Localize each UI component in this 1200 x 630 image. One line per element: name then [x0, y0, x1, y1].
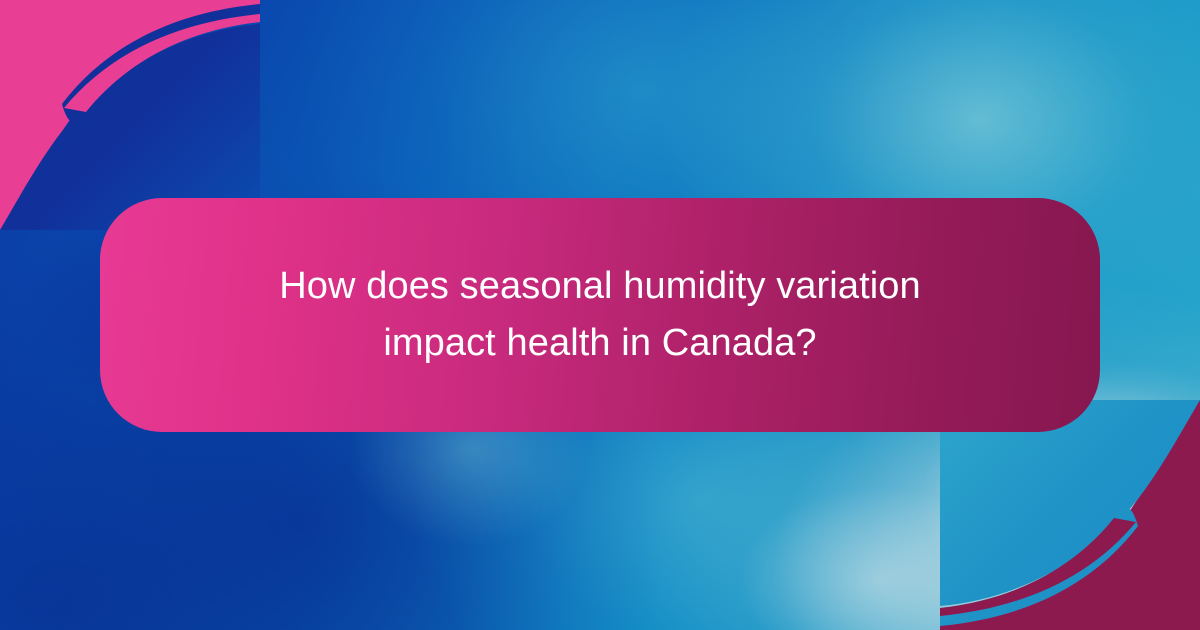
poster-canvas: How does seasonal humidity variation imp…	[0, 0, 1200, 630]
question-text: How does seasonal humidity variation imp…	[220, 258, 980, 372]
question-card[interactable]: How does seasonal humidity variation imp…	[100, 198, 1100, 432]
